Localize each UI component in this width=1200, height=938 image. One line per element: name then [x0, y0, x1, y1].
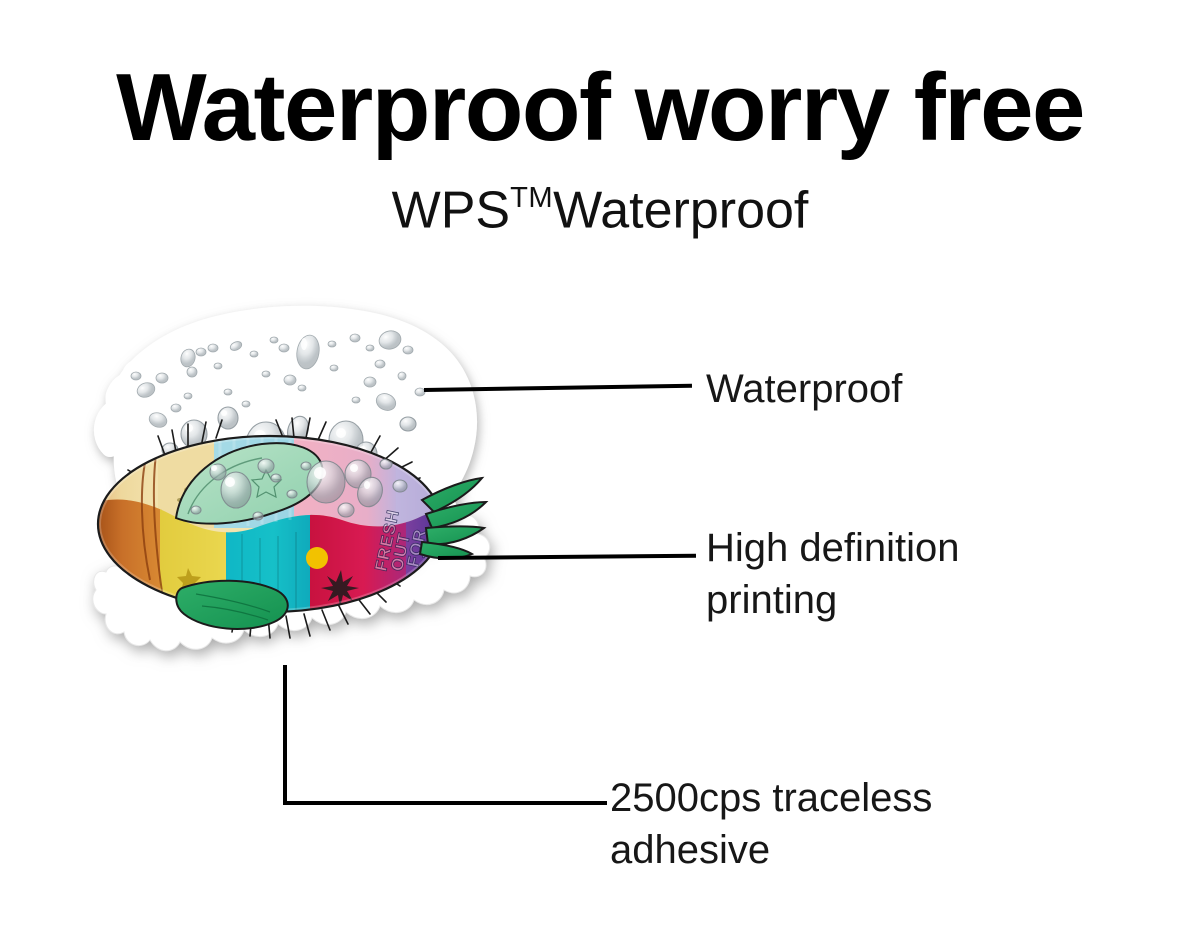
subtitle-suffix: Waterproof	[553, 181, 808, 239]
sticker-illustration: FRESH OUT FOR THE	[70, 272, 540, 772]
trademark-symbol: TM	[510, 182, 553, 214]
callout-label-waterproof: Waterproof	[706, 363, 902, 415]
leader-line-adhesive-vertical	[283, 665, 287, 805]
leader-line-adhesive-horizontal	[283, 801, 607, 805]
leader-line-printing	[438, 554, 696, 560]
page-title: Waterproof worry free	[0, 58, 1200, 159]
page-subtitle: WPSTMWaterproof	[0, 182, 1200, 240]
callout-label-traceless-adhesive: 2500cps traceless adhesive	[610, 772, 1010, 876]
poster-canvas: Waterproof worry free WPSTMWaterproof	[0, 0, 1200, 938]
subtitle-brand: WPS	[392, 181, 510, 239]
callout-label-high-definition-printing: High definition printing	[706, 522, 1036, 626]
yellow-dot	[306, 547, 328, 569]
